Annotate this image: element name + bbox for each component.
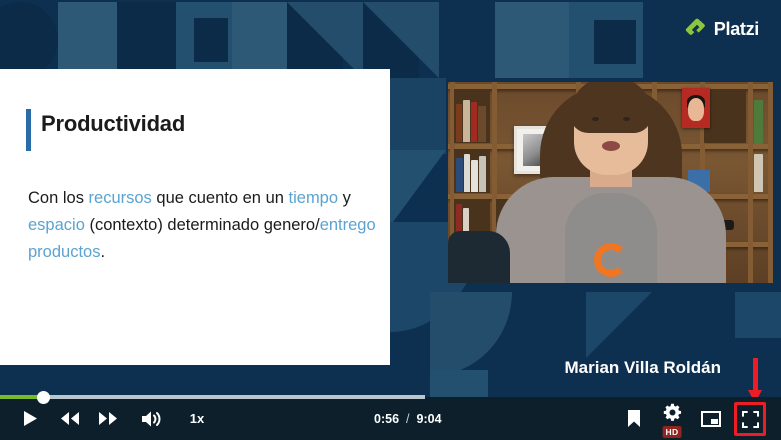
current-time: 0:56 [374,412,399,426]
bookmark-button[interactable] [621,397,647,440]
slide-plain-text: Con los [28,189,89,207]
bg-shape-quarter-circle [430,292,512,376]
total-time: 9:04 [417,412,442,426]
slide-highlight-word: recursos [89,189,152,207]
time-separator: / [406,412,409,426]
slide-plain-text: . [100,243,105,261]
rewind-button[interactable] [56,397,84,440]
fullscreen-button[interactable] [734,402,766,436]
player-control-bar[interactable]: 1x 0:56 / 9:04 HD [0,397,781,440]
fast-forward-icon [98,411,118,426]
fullscreen-icon [742,411,759,428]
slide-highlight-word: tiempo [289,189,339,207]
bg-shape-triangle [586,292,652,358]
play-button[interactable] [16,397,44,440]
slide-stage: Productividad Con los recursos que cuent… [0,0,781,397]
slide-title: Productividad [41,111,185,137]
presenter-mouth [602,141,620,151]
presenter-hair-top [570,82,652,133]
webcam-video-feed [448,82,773,283]
playback-speed-button[interactable]: 1x [180,397,214,440]
picture-in-picture-button[interactable] [697,397,725,440]
video-player[interactable]: Productividad Con los recursos que cuent… [0,0,781,440]
bg-shape-triangle [390,150,446,226]
speaker-name-label: Marian Villa Roldán [564,358,721,378]
bookmark-icon [627,409,641,428]
platzi-wordmark: Platzi [714,19,759,40]
chair-back [448,231,510,283]
platzi-logo: Platzi [685,18,759,40]
time-display: 0:56 / 9:04 [374,397,442,440]
bg-shape-triangle [287,2,363,78]
bg-shape-square [735,292,781,338]
hd-quality-badge: HD [663,426,682,438]
presenter-eye [623,117,630,121]
presenter-shirt-logo [594,243,628,277]
bg-shape-square [117,2,176,78]
presenter-eye [592,117,599,121]
slide-plain-text: (contexto) determinado genero/ [85,216,320,234]
bg-shape-square-inner [194,18,228,62]
presentation-slide: Productividad Con los recursos que cuent… [0,69,390,365]
slide-body-text: Con los recursos que cuento en un tiempo… [28,185,378,266]
quality-settings-button[interactable]: HD [657,397,687,440]
bg-shape-square [495,2,569,78]
bg-shape-square [232,2,287,78]
forward-button[interactable] [94,397,122,440]
play-icon [23,410,38,427]
slide-plain-text: y [338,189,351,207]
gear-glyph [663,403,682,422]
volume-icon [141,410,162,428]
bg-shape-square-inner [594,20,636,64]
slide-plain-text: que cuento en un [152,189,289,207]
picture-in-picture-icon [701,411,721,427]
bg-shape-square [390,78,446,154]
platzi-mark-icon [685,18,707,40]
volume-button[interactable] [136,397,166,440]
rewind-icon [60,411,80,426]
gear-icon [663,403,682,427]
slide-accent-bar [26,109,31,151]
bg-shape-triangle [363,2,439,78]
slide-highlight-word: espacio [28,216,85,234]
bg-shape-circle [0,2,58,78]
